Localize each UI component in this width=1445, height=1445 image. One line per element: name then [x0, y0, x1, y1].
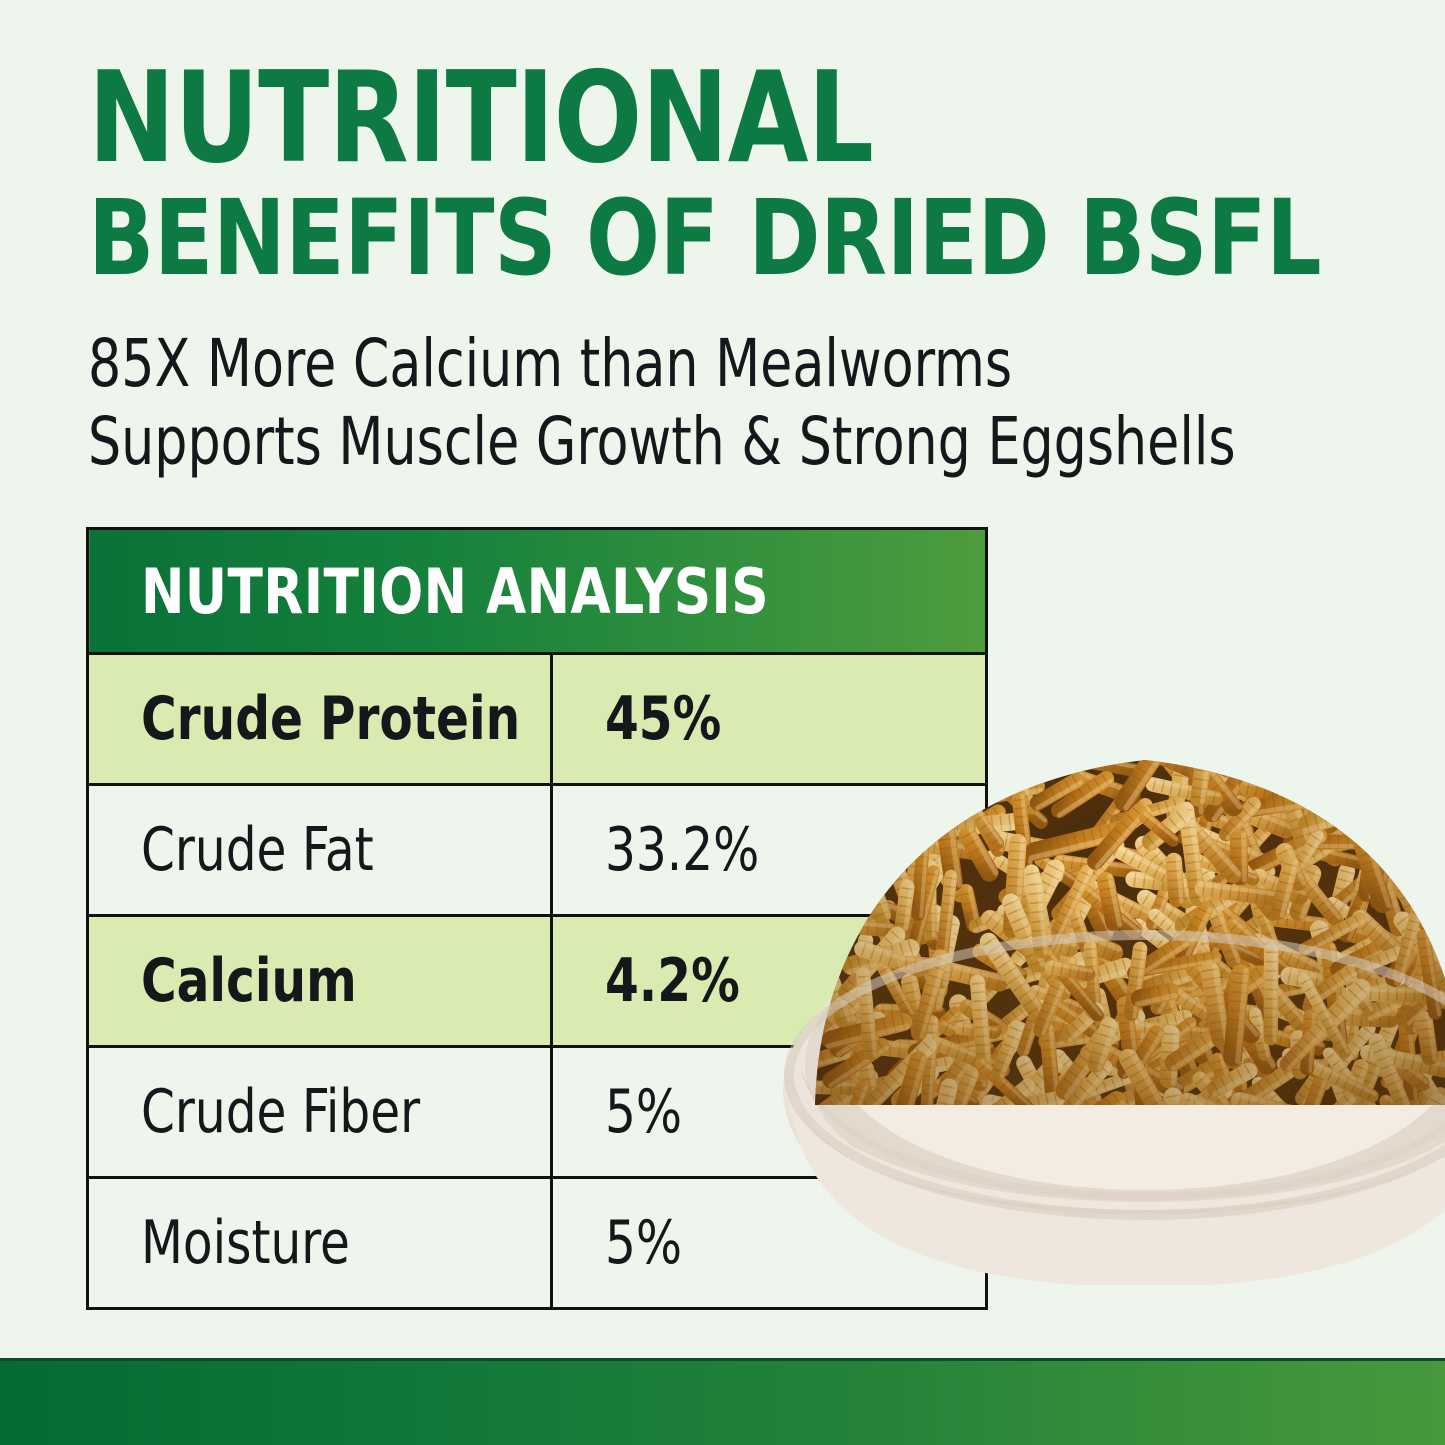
- nutrient-value-cell: 4.2%: [552, 916, 987, 1047]
- table-body: Crude Protein45%Crude Fat33.2%Calcium4.2…: [88, 654, 987, 1309]
- nutrient-label-cell: Calcium: [88, 916, 552, 1047]
- nutrient-value: 45%: [605, 689, 721, 749]
- subtitle-line-2: Supports Muscle Growth & Strong Eggshell…: [88, 403, 1258, 481]
- table-row: Calcium4.2%: [88, 916, 987, 1047]
- nutrient-label-cell: Crude Fat: [88, 785, 552, 916]
- table-header-cell: NUTRITION ANALYSIS: [88, 529, 987, 654]
- nutrient-value: 33.2%: [605, 820, 759, 880]
- nutrient-value-cell: 5%: [552, 1178, 987, 1309]
- nutrient-value-cell: 45%: [552, 654, 987, 785]
- nutrient-label: Crude Fiber: [141, 1082, 420, 1142]
- nutrient-value-cell: 33.2%: [552, 785, 987, 916]
- table-row: Crude Fiber5%: [88, 1047, 987, 1178]
- nutrient-label: Crude Protein: [141, 689, 520, 749]
- infographic-canvas: NUTRITIONAL BENEFITS OF DRIED BSFL 85X M…: [0, 0, 1445, 1445]
- footer-accent-bar: [0, 1358, 1445, 1445]
- nutrient-value: 5%: [605, 1082, 682, 1142]
- table-header-label: NUTRITION ANALYSIS: [141, 555, 769, 628]
- subtitle-block: 85X More Calcium than Mealworms Supports…: [88, 325, 1418, 481]
- nutrient-label: Moisture: [141, 1213, 350, 1273]
- nutrient-value: 4.2%: [605, 951, 740, 1011]
- table-row: Moisture5%: [88, 1178, 987, 1309]
- nutrient-label-cell: Moisture: [88, 1178, 552, 1309]
- title-line-1: NUTRITIONAL: [88, 58, 1302, 179]
- nutrient-value: 5%: [605, 1213, 682, 1273]
- nutrient-label-cell: Crude Protein: [88, 654, 552, 785]
- table-header-row: NUTRITION ANALYSIS: [88, 529, 987, 654]
- nutrient-label: Crude Fat: [141, 820, 374, 880]
- table-row: Crude Protein45%: [88, 654, 987, 785]
- subtitle-line-1: 85X More Calcium than Mealworms: [88, 325, 1258, 403]
- page-title: NUTRITIONAL BENEFITS OF DRIED BSFL: [88, 58, 1408, 291]
- nutrient-label-cell: Crude Fiber: [88, 1047, 552, 1178]
- nutrition-analysis-table: NUTRITION ANALYSIS Crude Protein45%Crude…: [86, 527, 985, 1310]
- nutrient-label: Calcium: [141, 951, 357, 1011]
- table-row: Crude Fat33.2%: [88, 785, 987, 916]
- nutrient-value-cell: 5%: [552, 1047, 987, 1178]
- title-line-2: BENEFITS OF DRIED BSFL: [88, 185, 1316, 291]
